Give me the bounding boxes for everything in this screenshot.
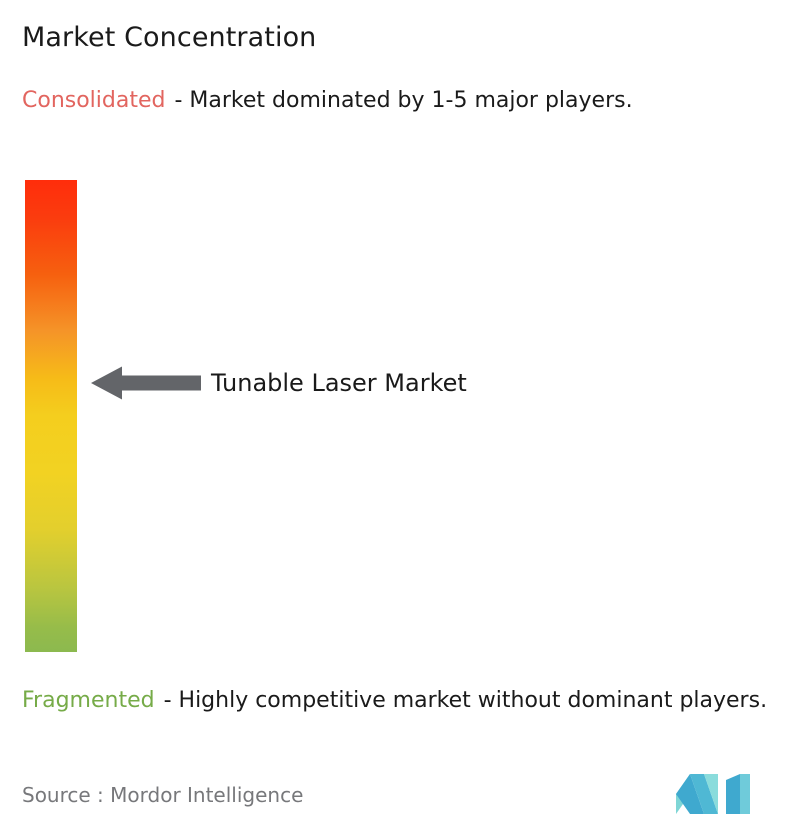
arrow-left-icon bbox=[91, 366, 201, 400]
legend-fragmented-description: - Highly competitive market without domi… bbox=[164, 688, 767, 713]
concentration-gradient-scale bbox=[25, 180, 77, 652]
market-pointer-annotation: Tunable Laser Market bbox=[91, 362, 541, 404]
mordor-intelligence-logo bbox=[674, 772, 752, 814]
legend-fragmented-keyword: Fragmented bbox=[22, 688, 155, 713]
legend-consolidated-description: - Market dominated by 1-5 major players. bbox=[174, 88, 632, 113]
source-attribution: Source : Mordor Intelligence bbox=[22, 780, 303, 810]
legend-consolidated-keyword: Consolidated bbox=[22, 88, 165, 113]
page-title: Market Concentration bbox=[22, 20, 316, 56]
legend-consolidated: Consolidated- Market dominated by 1-5 ma… bbox=[22, 85, 782, 117]
market-concentration-infographic: Market Concentration Consolidated- Marke… bbox=[0, 0, 796, 834]
market-name-label: Tunable Laser Market bbox=[211, 362, 467, 404]
source-row: Source : Mordor Intelligence bbox=[22, 780, 774, 824]
legend-fragmented: Fragmented- Highly competitive market wi… bbox=[22, 685, 787, 717]
